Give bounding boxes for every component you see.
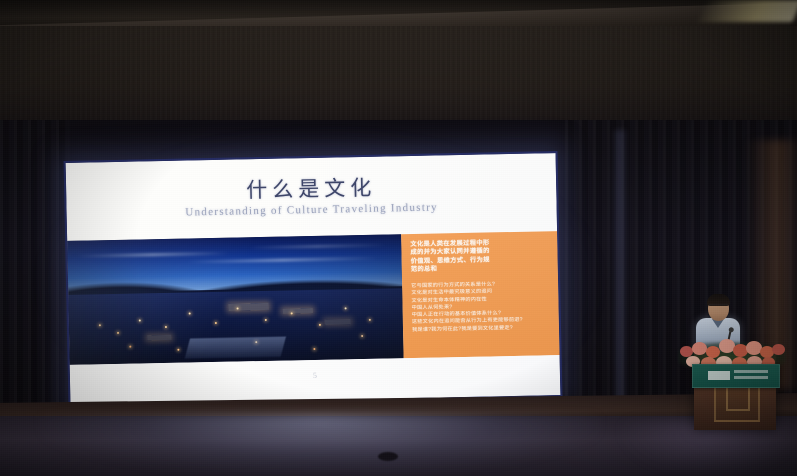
orange-panel-heading: 文化是人类在发展过程中形 成的并为大家认同并遵循的 价值观、思维方式、行为规 范…	[410, 238, 554, 274]
floor-object	[378, 452, 398, 461]
orange-panel-body: 它与国家的行为方式的关系是什么? 文化是对生活中最究极意义的追问 文化是对生命本…	[411, 280, 555, 334]
night-cityscape-photo	[67, 234, 403, 365]
photo-vignette	[67, 234, 403, 365]
slide-page-number: 5	[70, 366, 560, 385]
ceiling-light-glow	[698, 0, 797, 22]
glasses-icon	[709, 304, 728, 309]
orange-text-panel: 文化是人类在发展过程中形 成的并为大家认同并遵循的 价值观、思维方式、行为规 范…	[401, 231, 560, 358]
slide-content: 什么是文化 Understanding of Culture Traveling…	[66, 153, 561, 405]
organization-logo-icon	[708, 371, 730, 380]
floor-reflection	[40, 414, 600, 476]
lectern-sign-text	[734, 370, 768, 381]
projection-screen: 什么是文化 Understanding of Culture Traveling…	[64, 151, 563, 407]
curtain-light-sheen	[612, 130, 628, 420]
stage-curtain-left	[0, 120, 70, 420]
lectern-sign	[692, 364, 780, 388]
slide-title-band: 什么是文化 Understanding of Culture Traveling…	[66, 153, 557, 241]
conference-hall-scene: 什么是文化 Understanding of Culture Traveling…	[0, 0, 797, 476]
